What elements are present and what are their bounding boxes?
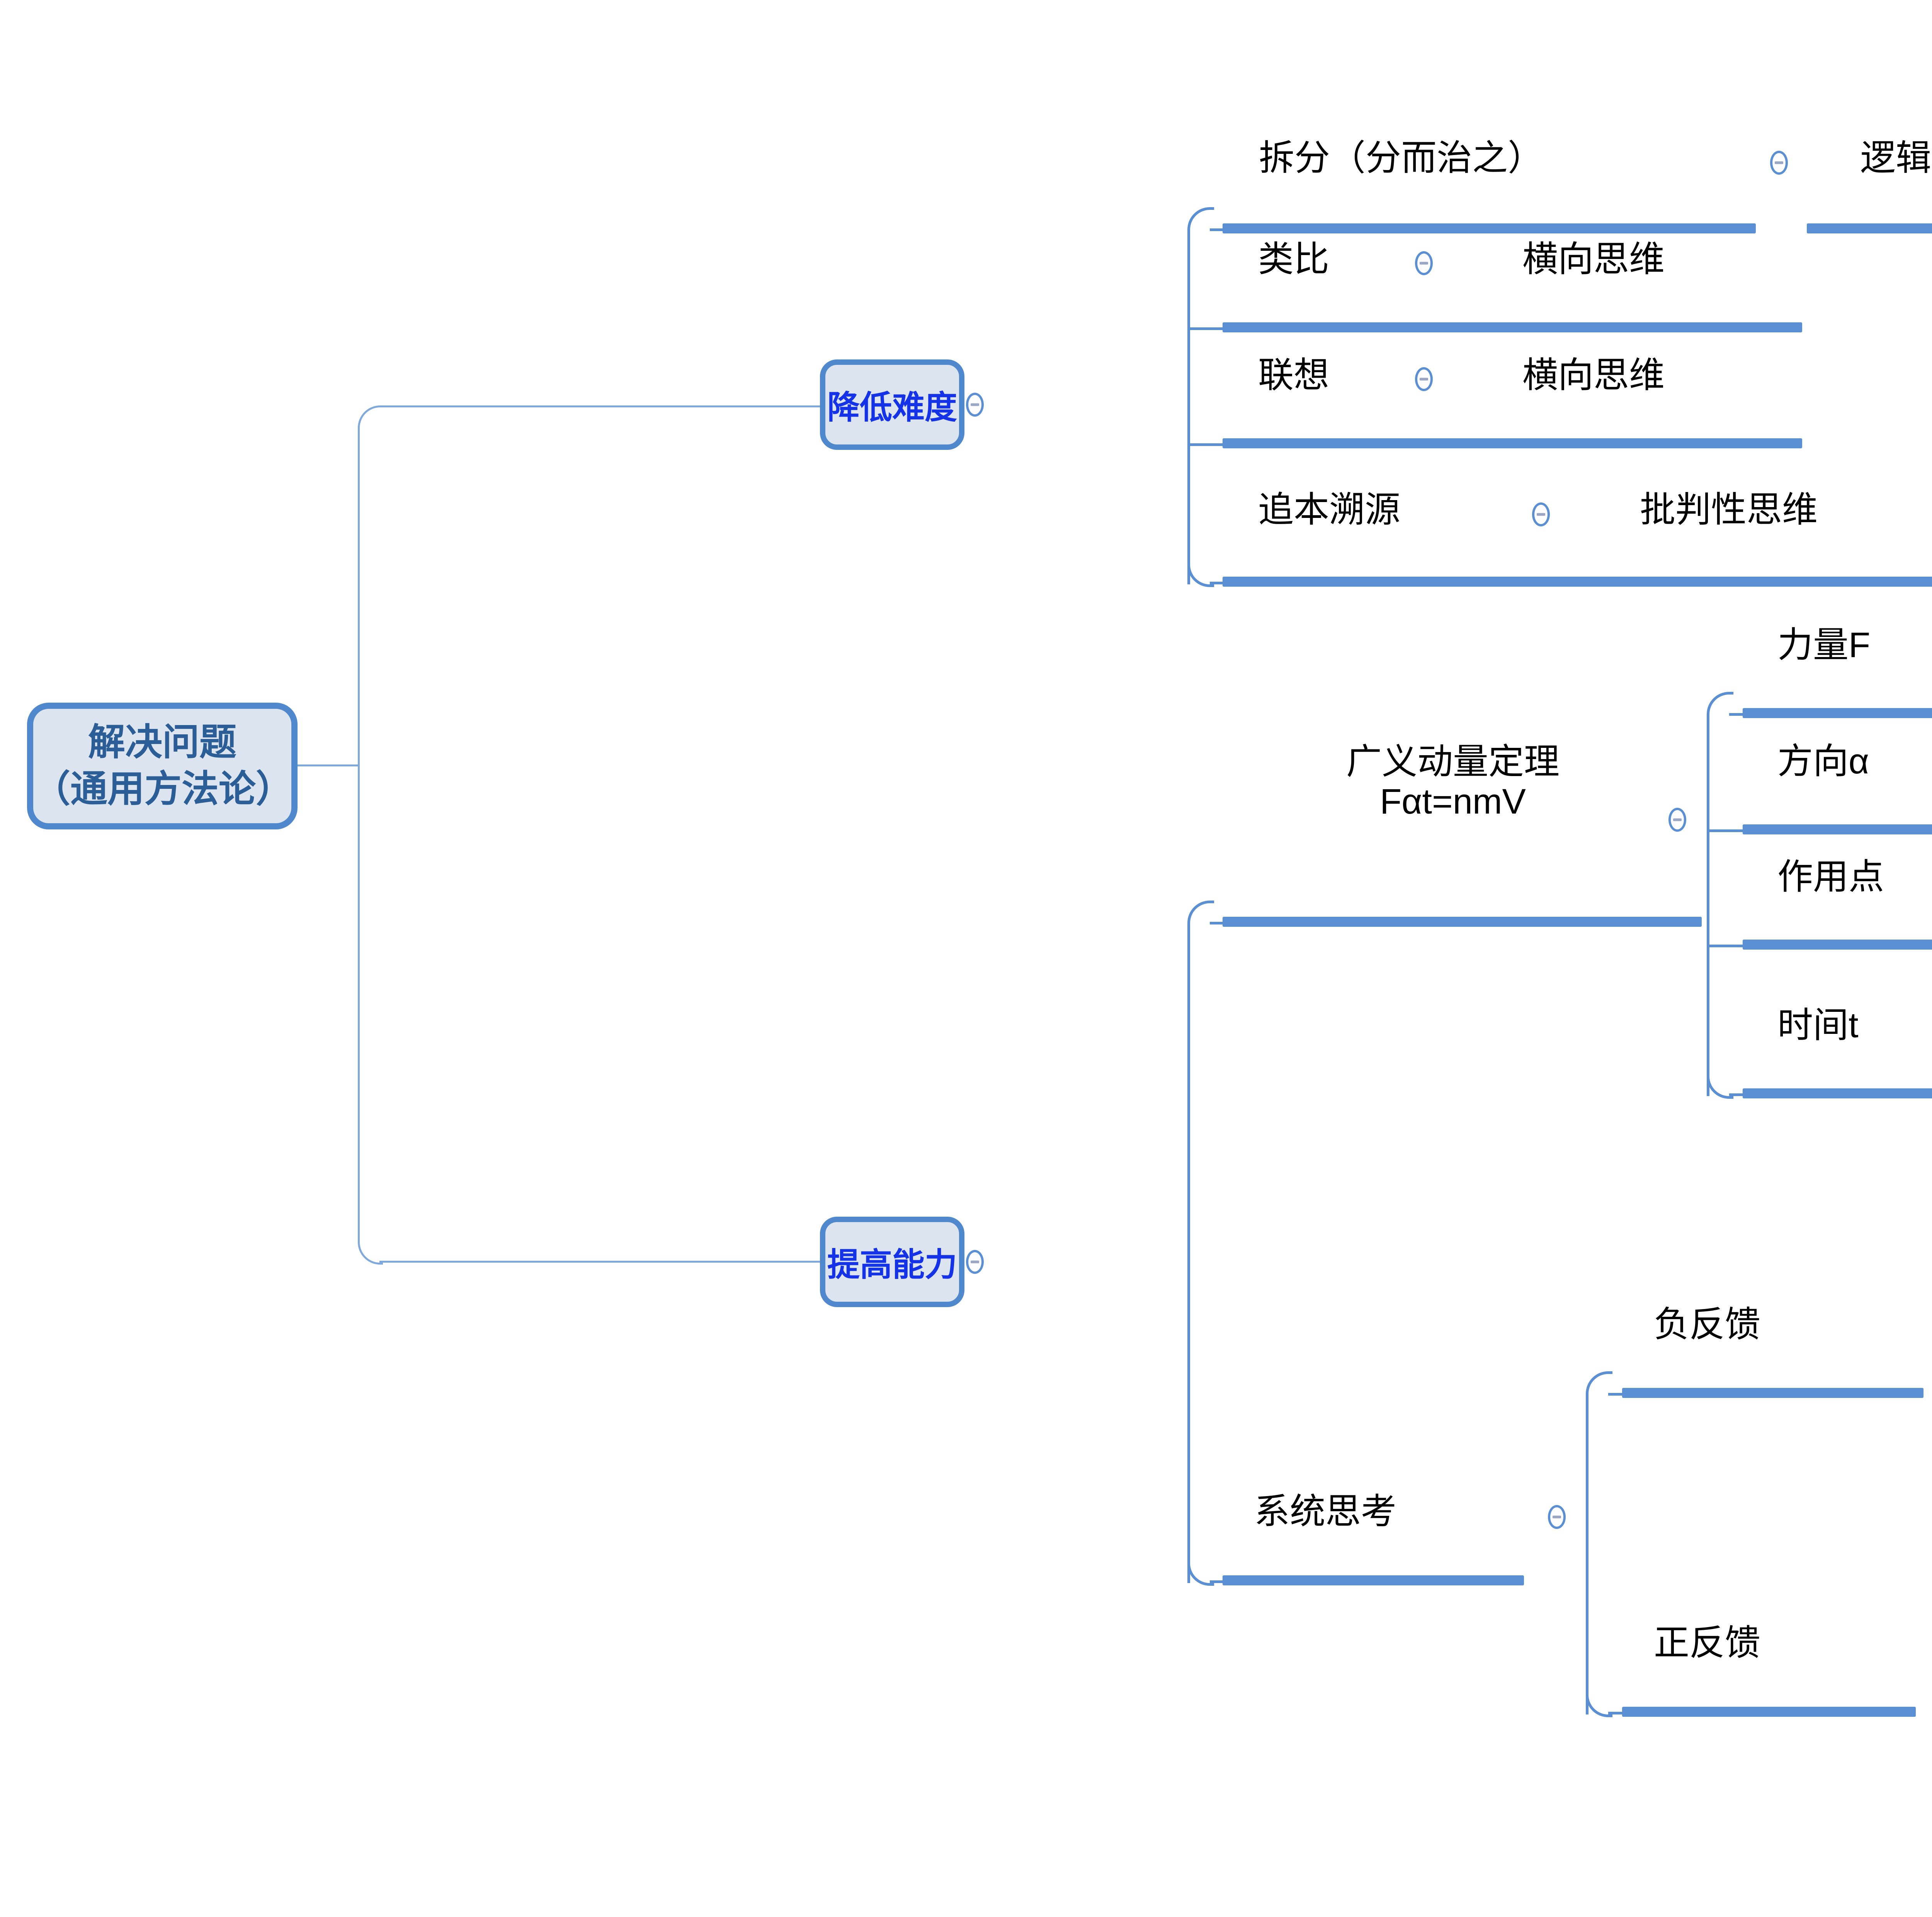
momentum-rail-stub-4 — [1729, 1093, 1745, 1096]
minus-icon — [1775, 162, 1783, 164]
momentum-rail-stub-2 — [1709, 829, 1744, 832]
root-label-line1: 解决问题 — [88, 722, 236, 763]
topic-bar-split — [1223, 223, 1756, 233]
root-stem — [298, 764, 359, 766]
momentum-rail-stub-3 — [1709, 945, 1744, 947]
leaf-label-association: 联想 — [1258, 356, 1329, 395]
leaf-label-force: 力量F — [1777, 625, 1870, 665]
topic-bar-systems-thinking — [1223, 1575, 1524, 1585]
leaf-label-point-of-action: 作用点 — [1777, 857, 1884, 897]
minus-icon — [1537, 513, 1545, 516]
reduce-rail-stub-row2 — [1190, 327, 1225, 330]
systems-rail-vertical — [1586, 1394, 1588, 1714]
systems-rail-stub-positive — [1608, 1712, 1624, 1714]
topic-bar-lateral-thinking-2 — [1471, 438, 1802, 448]
systems-rail-stub-negative — [1608, 1393, 1624, 1396]
minus-icon — [971, 403, 979, 406]
leaf-label-positive-feedback: 正反馈 — [1654, 1623, 1760, 1663]
collapse-toggle-split[interactable] — [1770, 151, 1788, 175]
branch-node-reduce-difficulty[interactable]: 降低难度 — [820, 359, 964, 450]
topic-bar-logical-thinking — [1807, 223, 1932, 233]
leaf-label-lateral-thinking-1: 横向思维 — [1522, 240, 1665, 279]
minus-icon — [1673, 819, 1682, 821]
reduce-rail-vertical — [1187, 230, 1190, 584]
topic-bar-positive-feedback — [1622, 1707, 1916, 1717]
leaf-label-logical-thinking: 逻辑思维 — [1860, 138, 1932, 178]
leaf-label-time: 时间t — [1777, 1006, 1859, 1045]
collapse-toggle-analogy[interactable] — [1415, 251, 1433, 275]
momentum-rail-vertical — [1707, 714, 1709, 1096]
topic-bar-critical-thinking — [1591, 577, 1932, 587]
branch-improve-ability-label: 提高能力 — [827, 1239, 957, 1285]
momentum-rail-stub-1 — [1729, 713, 1745, 716]
momentum-title-line1: 广义动量定理 — [1346, 742, 1560, 781]
collapse-toggle-generalized-momentum[interactable] — [1668, 808, 1686, 832]
root-label-line2: （通用方法论） — [33, 768, 293, 810]
leaf-label-systems-thinking: 系统思考 — [1254, 1492, 1396, 1532]
collapse-toggle-improve-ability[interactable] — [966, 1250, 984, 1274]
topic-bar-force — [1743, 708, 1932, 718]
topic-bar-direction — [1743, 824, 1932, 834]
improve-rail-vertical — [1187, 923, 1190, 1583]
topic-bar-lateral-thinking-1 — [1471, 322, 1802, 332]
minus-icon — [1553, 1516, 1561, 1519]
leaf-label-generalized-momentum: 广义动量定理 Fαt=nmV — [1260, 742, 1646, 822]
root-node[interactable]: 解决问题 （通用方法论） — [27, 703, 298, 829]
branch-node-improve-ability[interactable]: 提高能力 — [820, 1217, 964, 1307]
root-rail-to-reduce — [379, 405, 824, 407]
leaf-label-split: 拆分（分而治之） — [1259, 138, 1543, 178]
mindmap-canvas: 解决问题 （通用方法论） 降低难度 拆分（分而治之） 逻辑思维 类比 横向思维 … — [0, 0, 1932, 1917]
minus-icon — [1420, 262, 1428, 265]
topic-bar-generalized-momentum — [1223, 917, 1702, 927]
topic-bar-negative-feedback — [1622, 1388, 1923, 1398]
collapse-toggle-trace-origin[interactable] — [1532, 502, 1550, 526]
leaf-label-lateral-thinking-2: 横向思维 — [1522, 356, 1665, 395]
leaf-label-negative-feedback: 负反馈 — [1654, 1305, 1760, 1345]
leaf-label-trace-origin: 追本溯源 — [1258, 490, 1400, 530]
minus-icon — [971, 1261, 979, 1263]
leaf-label-critical-thinking: 批判性思维 — [1640, 490, 1818, 530]
topic-bar-point-of-action — [1743, 940, 1932, 950]
minus-icon — [1420, 378, 1428, 381]
leaf-label-direction: 方向α — [1777, 742, 1869, 781]
collapse-toggle-association[interactable] — [1415, 367, 1433, 391]
branch-reduce-difficulty-label: 降低难度 — [827, 381, 957, 428]
root-rail-elbow-top — [358, 405, 383, 431]
collapse-toggle-systems-thinking[interactable] — [1548, 1505, 1566, 1529]
momentum-title-line2: Fαt=nmV — [1380, 782, 1526, 821]
root-rail-vertical — [358, 427, 360, 1242]
leaf-label-analogy: 类比 — [1258, 240, 1329, 279]
topic-bar-time — [1743, 1088, 1932, 1098]
root-node-label: 解决问题 （通用方法论） — [33, 719, 291, 813]
reduce-rail-stub-row3 — [1190, 443, 1225, 446]
root-rail-to-improve — [379, 1261, 824, 1263]
collapse-toggle-reduce-difficulty[interactable] — [966, 393, 984, 417]
